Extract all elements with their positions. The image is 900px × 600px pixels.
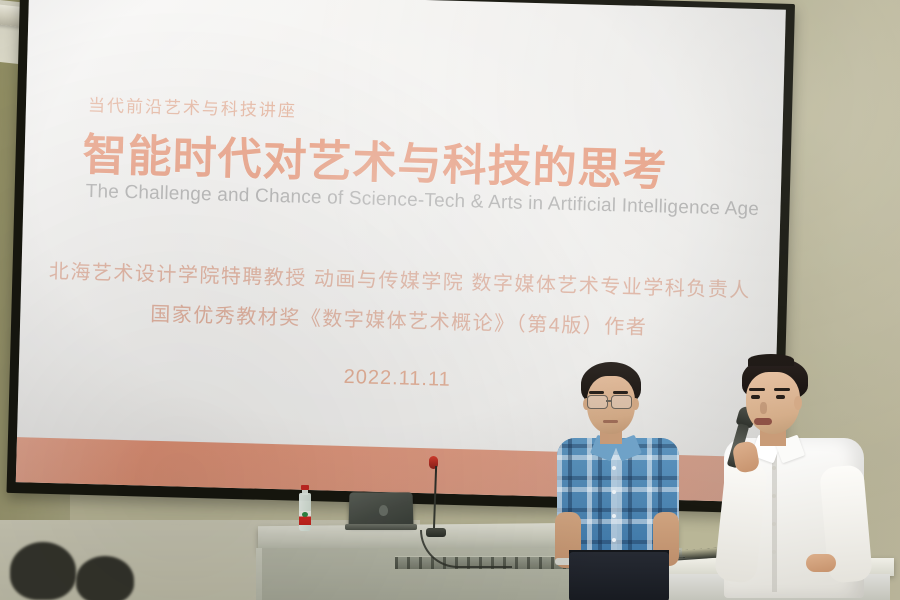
- eyeglasses-lens-left: [587, 395, 608, 409]
- shirt-button: [772, 550, 776, 554]
- water-bottle: [298, 485, 312, 531]
- shirt-button: [772, 466, 776, 470]
- shirt-button: [772, 494, 776, 498]
- slide-eyebrow-text: 当代前沿艺术与科技讲座: [88, 91, 298, 122]
- speaker-right-hand-right: [806, 554, 836, 572]
- shirt-placket: [772, 450, 777, 592]
- slide-credential-line-1: 北海艺术设计学院特聘教授 动画与传媒学院 数字媒体艺术专业学科负责人: [21, 254, 779, 303]
- ear: [632, 398, 639, 410]
- eyeglasses-lens-right: [611, 395, 632, 409]
- audience-head-silhouette: [10, 542, 76, 600]
- ear: [794, 396, 802, 410]
- microphone-base: [426, 528, 446, 537]
- eyebrow: [774, 388, 790, 391]
- eyebrow: [589, 391, 604, 394]
- laptop-base: [345, 524, 417, 530]
- slide-credential-line-2: 国家优秀教材奖《数字媒体艺术概论》（第4版）作者: [20, 294, 778, 343]
- laptop-computer[interactable]: [345, 492, 417, 530]
- shirt-button: [612, 490, 616, 494]
- audience-head-silhouette: [76, 556, 134, 600]
- lecture-hall-scene: 当代前沿艺术与科技讲座 智能时代对艺术与科技的思考 The Challenge …: [0, 0, 900, 600]
- eyebrow: [749, 388, 765, 391]
- mouth: [603, 420, 618, 423]
- eyeglasses-bridge: [606, 400, 611, 402]
- speaker-right-face: [746, 372, 800, 434]
- eye: [751, 395, 760, 399]
- shirt-button: [612, 466, 616, 470]
- bottle-cap: [301, 485, 309, 490]
- speaker-left-trousers: [569, 552, 669, 600]
- nose: [760, 402, 767, 414]
- speaker-left: [555, 362, 685, 600]
- microphone-stem: [433, 466, 437, 532]
- shirt-button: [612, 538, 616, 542]
- gooseneck-microphone[interactable]: [422, 452, 448, 536]
- speaker-right-hair-spike: [748, 354, 794, 366]
- bottle-label-mark-icon: [302, 512, 308, 517]
- shirt-placket: [611, 448, 617, 552]
- speaker-right: [718, 358, 878, 600]
- shirt-button: [772, 522, 776, 526]
- shirt-button: [612, 514, 616, 518]
- eye: [776, 395, 785, 399]
- laptop-lid: [349, 492, 414, 526]
- eyebrow: [613, 391, 628, 394]
- mouth: [754, 418, 772, 425]
- apple-logo-icon: [379, 505, 388, 516]
